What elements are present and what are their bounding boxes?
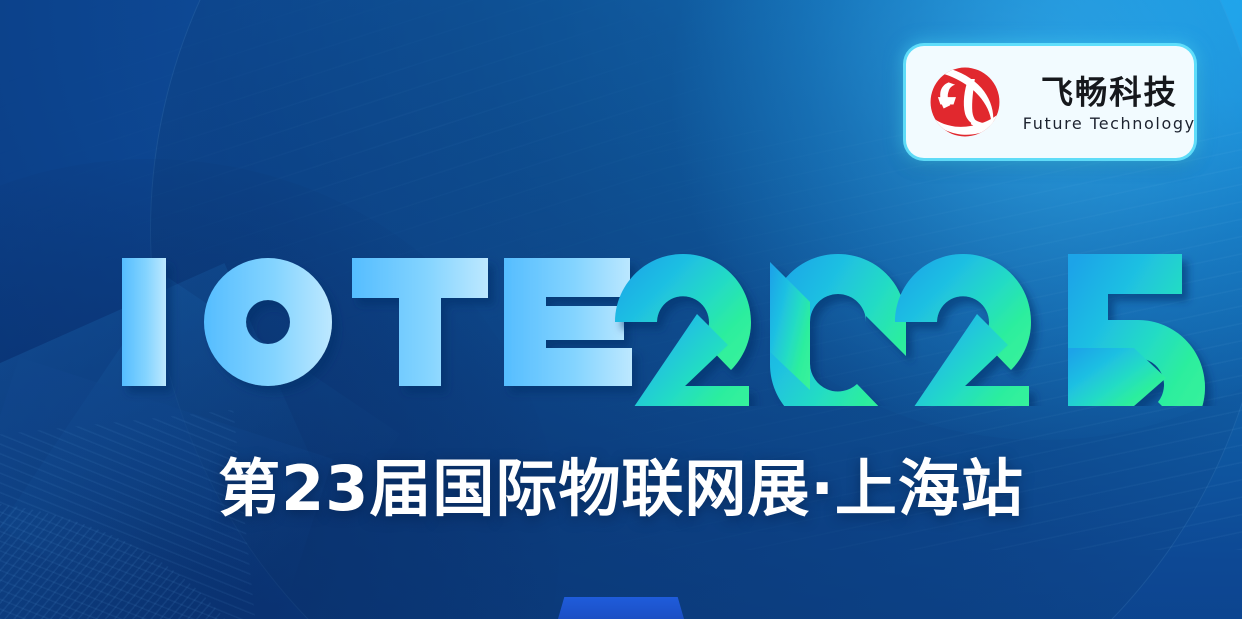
year-digits: [615, 254, 1205, 406]
bottom-tab-shape: [558, 597, 684, 619]
brand-en-name: Future Technology: [1023, 114, 1196, 133]
brand-logo-badge[interactable]: 飞畅科技 Future Technology: [906, 46, 1194, 158]
svg-text:飞畅科技: 飞畅科技: [1041, 73, 1178, 111]
iote-2025-banner: 第23届国际物联网展·上海站 飞畅科技 Futu: [0, 0, 1242, 619]
brand-wordmark: 飞畅科技 Future Technology: [1014, 72, 1204, 133]
page-subtitle: 第23届国际物联网展·上海站: [0, 450, 1242, 528]
feichang-sphere-mark-icon: [924, 61, 1006, 143]
brand-cn-name-icon: 飞畅科技: [1014, 72, 1204, 112]
iote-letters: [122, 258, 632, 386]
headline-iote-2025: [0, 236, 1242, 406]
headline-svg: [0, 236, 1242, 406]
